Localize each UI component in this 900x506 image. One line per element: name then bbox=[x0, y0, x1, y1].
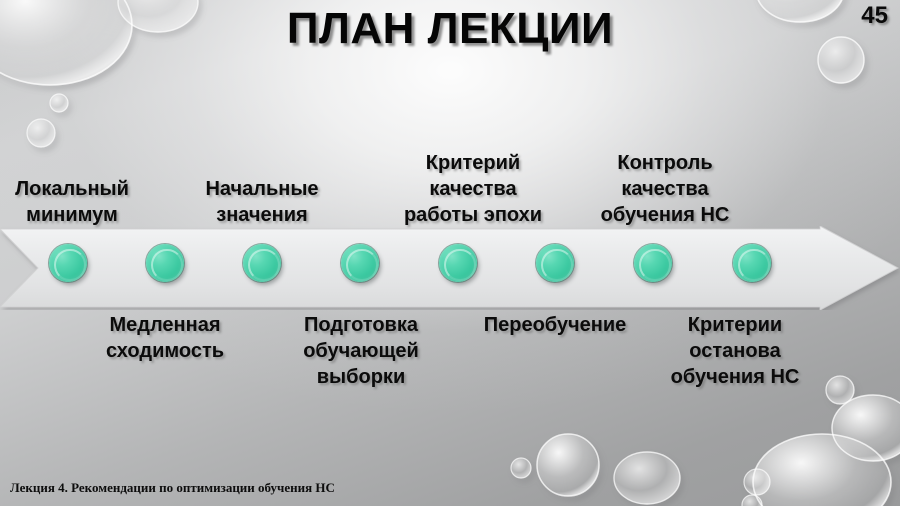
timeline-node[interactable] bbox=[733, 244, 771, 282]
footer-text: Лекция 4. Рекомендации по оптимизации об… bbox=[10, 480, 335, 496]
timeline-node[interactable] bbox=[536, 244, 574, 282]
timeline-label-4: Подготовка обучающей выборки bbox=[261, 312, 461, 390]
slide-canvas: ПЛАН ЛЕКЦИИ 45 Локальный bbox=[0, 0, 900, 506]
timeline-label-8: Критерии останова обучения НС bbox=[635, 312, 835, 390]
slide-title: ПЛАН ЛЕКЦИИ bbox=[0, 4, 900, 54]
timeline-label-7: Контроль качества обучения НС bbox=[560, 150, 770, 228]
timeline-label-2: Медленная сходимость bbox=[60, 312, 270, 364]
timeline-label-1: Локальный минимум bbox=[0, 176, 167, 228]
timeline-node[interactable] bbox=[146, 244, 184, 282]
timeline-node[interactable] bbox=[439, 244, 477, 282]
timeline-node[interactable] bbox=[634, 244, 672, 282]
timeline-label-3: Начальные значения bbox=[167, 176, 357, 228]
timeline-label-6: Переобучение bbox=[455, 312, 655, 338]
page-number: 45 bbox=[861, 2, 888, 30]
bubble-group-bottom-right bbox=[742, 376, 900, 506]
timeline-node[interactable] bbox=[243, 244, 281, 282]
bubble-group-bottom-center bbox=[511, 434, 680, 504]
timeline-label-5: Критерий качества работы эпохи bbox=[368, 150, 578, 228]
timeline-node[interactable] bbox=[49, 244, 87, 282]
timeline-node[interactable] bbox=[341, 244, 379, 282]
